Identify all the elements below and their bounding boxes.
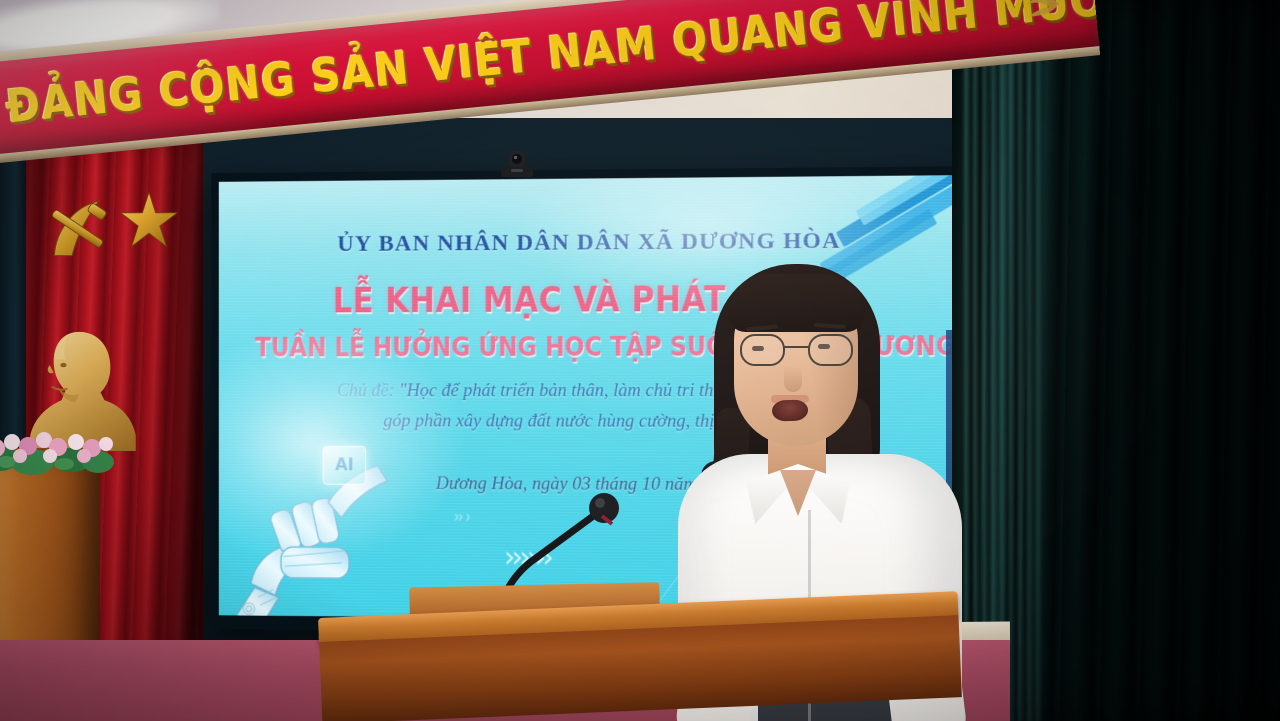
slide-theme-label: Chủ đề:: [337, 380, 395, 401]
nose: [784, 366, 802, 392]
robotic-hand-touching-screen-icon: [226, 442, 406, 622]
gold-flourish-ornament-right-icon: [1013, 0, 1063, 23]
slide-organization: ỦY BAN NHÂN DÂN DÂN XÃ DƯƠNG HÒA: [219, 227, 965, 258]
glasses-bridge: [784, 346, 809, 348]
lens-right: [808, 334, 853, 366]
chevron-arrows-small-icon: ›› ›: [454, 509, 470, 527]
gold-flourish-ornament-left-icon: [0, 96, 1, 123]
conference-stage-photo: ›››››› ›› ›: [0, 0, 1280, 721]
open-mouth: [772, 399, 809, 421]
flower-arrangement: [0, 418, 116, 476]
eyeglasses-icon: [738, 334, 854, 368]
lens-left: [740, 334, 785, 366]
hair-fringe: [728, 274, 864, 332]
